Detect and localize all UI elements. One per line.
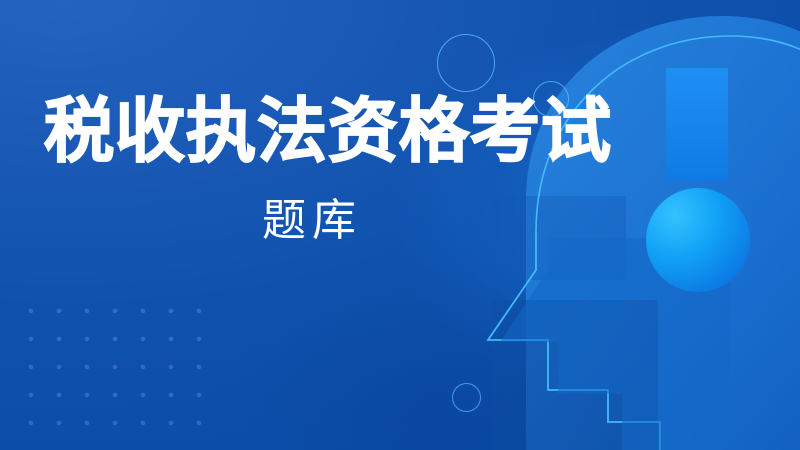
bulb-stem — [666, 68, 728, 180]
slide-canvas: 税收执法资格考试 题库 — [0, 0, 800, 450]
ring-large-icon — [437, 34, 495, 92]
dot-grid-pattern — [17, 297, 203, 441]
ring-medium-icon — [533, 81, 569, 117]
page-subtitle: 题库 — [262, 199, 362, 243]
bulb-sphere — [646, 188, 750, 292]
ring-small-icon — [452, 383, 481, 412]
